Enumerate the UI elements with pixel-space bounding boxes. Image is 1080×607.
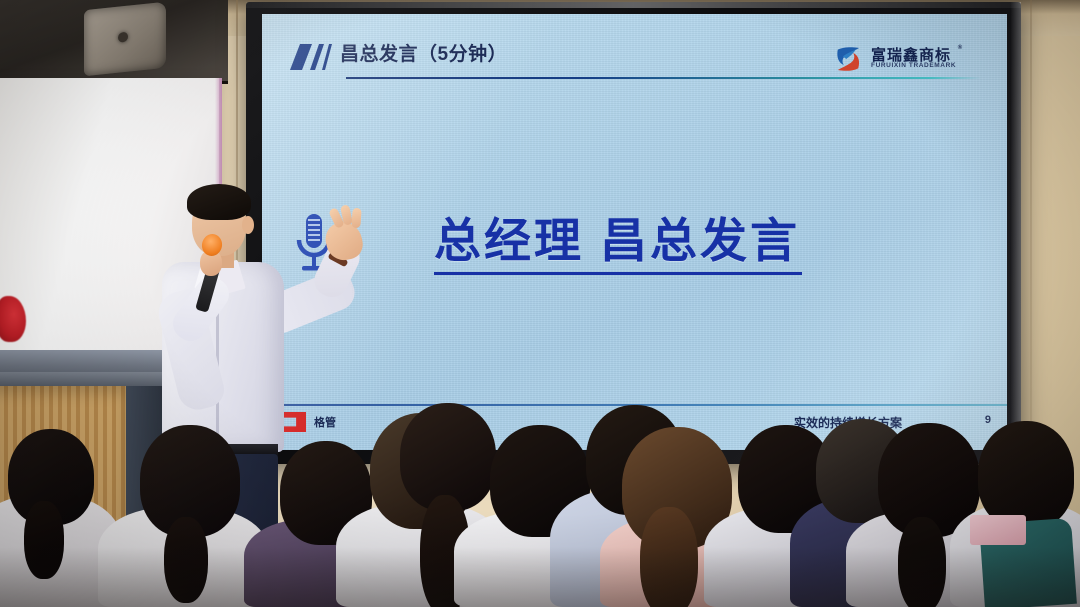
company-logo: 富瑞鑫商标® FURUIXIN TRADEMARK [831, 36, 989, 82]
presenter-hair [187, 184, 251, 220]
pink-box [970, 515, 1026, 545]
logo-cn-name: 富瑞鑫商标® [871, 48, 956, 64]
bezel-highlight [246, 2, 1021, 8]
bezel-edge [1011, 2, 1021, 464]
logo-text-block: 富瑞鑫商标® FURUIXIN TRADEMARK [871, 48, 956, 71]
logo-en-name: FURUIXIN TRADEMARK [871, 63, 956, 70]
furuixin-logo-icon [831, 42, 865, 76]
speaker-cone-icon [84, 2, 166, 77]
slide-main-title: 总经理 昌总发言 [434, 202, 800, 271]
ceiling-speaker [0, 0, 228, 84]
conference-room-photo: 昌总发言（5分钟） 富瑞鑫商标® FURUIXIN TRADEMARK [0, 0, 1080, 607]
presenter-finger [351, 208, 361, 229]
slide-header: 昌总发言（5分钟） 富瑞鑫商标® FURUIXIN TRADEMARK [262, 34, 1007, 80]
audience [0, 397, 1080, 607]
presenter-ear [242, 216, 254, 234]
slide-header-title: 昌总发言（5分钟） [340, 39, 507, 66]
slash-bars-icon [288, 42, 332, 72]
main-title-underline [434, 272, 802, 275]
